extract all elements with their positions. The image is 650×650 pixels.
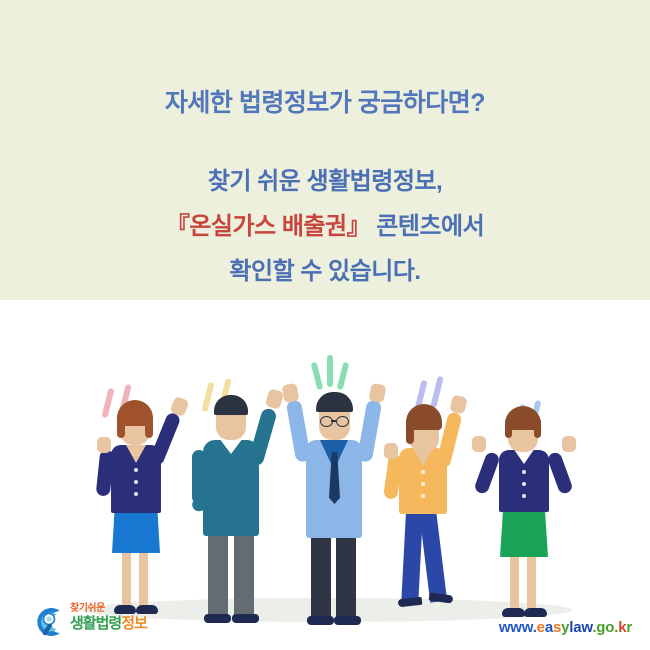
leg [418,499,447,602]
hair [406,418,414,444]
shoe [307,616,334,625]
page-title: 자세한 법령정보가 궁금하다면? [0,83,650,119]
shoe [502,608,525,617]
message-line-2-rest: 콘텐츠에서 [370,213,484,240]
url-part-s: s [553,619,561,636]
logo-brand-part-1: 생활법령 [70,615,121,632]
celebrating-people-illustration [0,300,650,650]
hand [449,394,468,414]
content-name-emphasis: 온실가스 배출권 [189,213,346,240]
hand [369,383,387,403]
logo-tagline: 찾기쉬운 [70,602,190,615]
hair [214,395,248,415]
leg [336,530,356,624]
url-part-e: e [537,619,545,636]
leg [208,528,228,622]
website-url[interactable]: www.easylaw.go.kr [499,619,632,636]
shoe [334,616,361,625]
hair [505,418,512,438]
message-panel: 자세한 법령정보가 궁금하다면? 찾기 쉬운 생활법령정보, 『온실가스 배출권… [0,0,650,300]
leg [311,530,331,624]
url-part-r: r [626,619,632,636]
shoe [524,608,547,617]
shoe [204,614,231,623]
bracket-close: 』 [347,213,371,240]
logo-brand-part-2: 정보 [121,615,147,632]
hand [282,383,300,403]
url-part-law: law [569,619,592,636]
magnifier-swirl-icon [30,604,66,640]
glasses-icon [320,416,333,427]
hand [472,436,486,452]
easylaw-logo[interactable]: 찾기쉬운 생활법령정보 [30,600,190,644]
hair [534,418,541,438]
logo-wordmark: 찾기쉬운 생활법령정보 [70,602,190,633]
bracket-open: 『 [166,213,190,240]
url-part-a: a [545,619,553,636]
skirt [500,505,548,557]
message-line-1: 찾기 쉬운 생활법령정보, [0,161,650,196]
logo-brandname: 생활법령정보 [70,615,190,633]
message-line-3: 확인할 수 있습니다. [0,251,650,286]
infographic-card: 자세한 법령정보가 궁금하다면? 찾기 쉬운 생활법령정보, 『온실가스 배출권… [0,0,650,650]
url-part-go: .go. [592,619,618,636]
shoe [232,614,259,623]
hair [316,392,353,412]
hand [384,443,398,459]
url-part-www: www. [499,619,537,636]
glasses-icon [336,416,349,427]
hair [117,414,125,438]
hand [562,436,576,452]
hand [97,437,111,453]
hand [265,388,284,409]
leg [234,528,254,622]
hair [145,414,153,438]
message-line-2: 『온실가스 배출권』 콘텐츠에서 [0,206,650,241]
